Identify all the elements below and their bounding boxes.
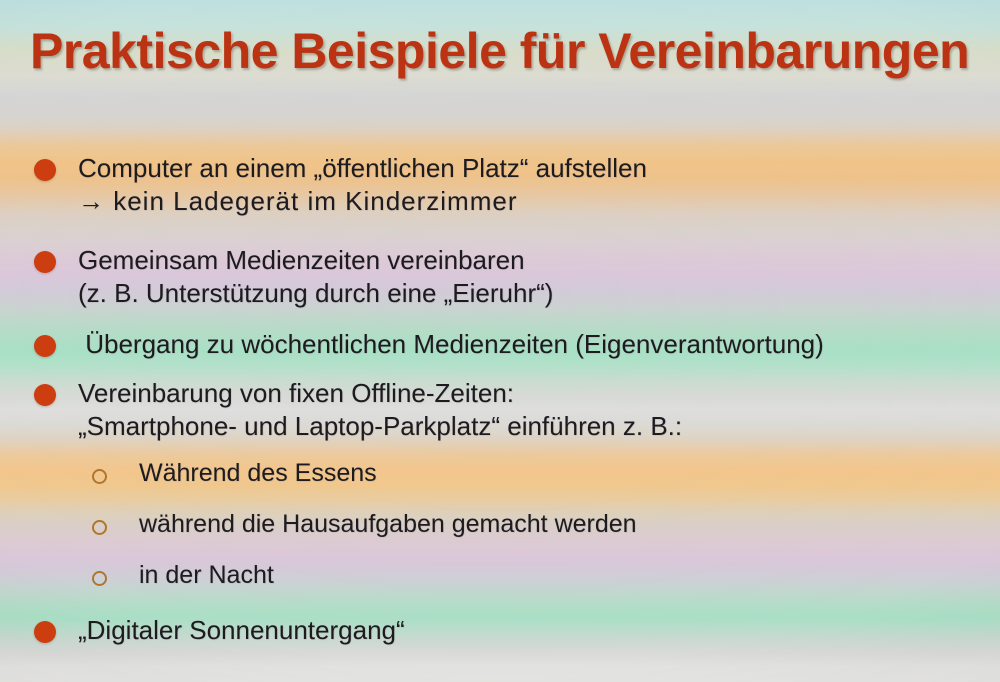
presentation-slide: Praktische Beispiele für Vereinbarungen … — [0, 0, 1000, 682]
list-item: Gemeinsam Medienzeiten vereinbaren(z. B.… — [0, 244, 1000, 310]
list-item-line-2: → kein Ladegerät im Kinderzimmer — [78, 185, 647, 218]
list-item-line-1: Gemeinsam Medienzeiten vereinbaren — [78, 245, 525, 275]
list-item: Computer an einem „öffentlichen Platz“ a… — [0, 152, 1000, 218]
sub-bullet-circle-icon — [92, 571, 107, 586]
spacer — [0, 443, 1000, 457]
list-item-text: Während des Essens — [139, 457, 377, 490]
list-item-text: Computer an einem „öffentlichen Platz“ a… — [78, 152, 647, 218]
slide-title: Praktische Beispiele für Vereinbarungen — [30, 22, 969, 80]
list-item-line-1: „Digitaler Sonnenuntergang“ — [78, 615, 405, 645]
list-item: während die Hausaufgaben gemacht werden — [0, 508, 1000, 541]
bullet-disc-icon — [34, 335, 56, 357]
sub-bullet-circle-icon — [92, 520, 107, 535]
list-item: Während des Essens — [0, 457, 1000, 490]
list-item-text: Übergang zu wöchentlichen Medienzeiten (… — [78, 328, 824, 361]
list-item: in der Nacht — [0, 559, 1000, 592]
list-item: Vereinbarung von fixen Offline-Zeiten:„S… — [0, 377, 1000, 443]
list-item-text: während die Hausaufgaben gemacht werden — [139, 508, 637, 541]
list-item-line-1: Übergang zu wöchentlichen Medienzeiten (… — [78, 329, 824, 359]
bullet-list: Computer an einem „öffentlichen Platz“ a… — [0, 152, 1000, 647]
bullet-disc-icon — [34, 621, 56, 643]
list-item-line-1: Computer an einem „öffentlichen Platz“ a… — [78, 153, 647, 183]
list-item-text: Gemeinsam Medienzeiten vereinbaren(z. B.… — [78, 244, 553, 310]
list-item-text: „Digitaler Sonnenuntergang“ — [78, 614, 405, 647]
spacer — [0, 541, 1000, 559]
list-item-text: Vereinbarung von fixen Offline-Zeiten:„S… — [78, 377, 682, 443]
list-item-text: in der Nacht — [139, 559, 274, 592]
list-item-line-1: Vereinbarung von fixen Offline-Zeiten: — [78, 378, 514, 408]
list-item-line-1: in der Nacht — [139, 561, 274, 589]
list-item-line-1: Während des Essens — [139, 459, 377, 487]
list-item-line-2: „Smartphone- und Laptop-Parkplatz“ einfü… — [78, 410, 682, 443]
list-item-line-2: (z. B. Unterstützung durch eine „Eieruhr… — [78, 277, 553, 310]
bullet-disc-icon — [34, 251, 56, 273]
spacer — [0, 490, 1000, 508]
bullet-disc-icon — [34, 384, 56, 406]
spacer — [0, 592, 1000, 614]
spacer — [0, 361, 1000, 377]
list-item: Übergang zu wöchentlichen Medienzeiten (… — [0, 328, 1000, 361]
list-item-line-1: während die Hausaufgaben gemacht werden — [139, 510, 637, 538]
spacer — [0, 310, 1000, 328]
spacer — [0, 218, 1000, 244]
bullet-disc-icon — [34, 159, 56, 181]
sub-bullet-circle-icon — [92, 469, 107, 484]
list-item: „Digitaler Sonnenuntergang“ — [0, 614, 1000, 647]
